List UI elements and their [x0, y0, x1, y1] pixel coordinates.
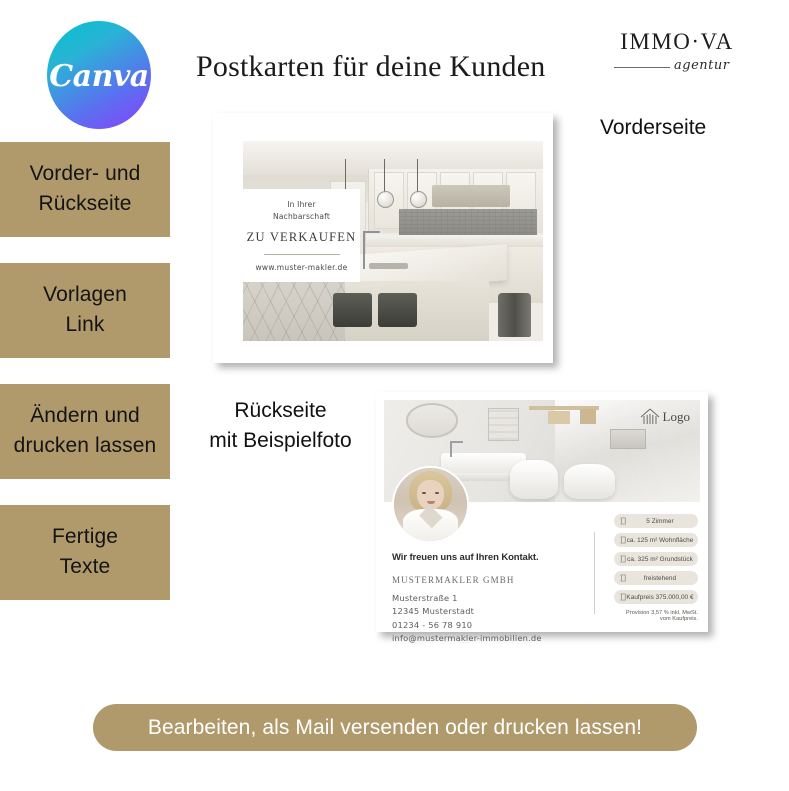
cta-button[interactable]: Bearbeiten, als Mail versenden oder druc…: [93, 704, 697, 751]
spec-row: 5 Zimmer: [614, 514, 698, 528]
canva-logo-wordmark: Canva: [49, 59, 149, 94]
postcard-back[interactable]: Logo Wir freuen uns auf Ihren Kontakt. M…: [376, 392, 708, 632]
back-logo-text: Logo: [663, 409, 690, 425]
sidebar-item-vorlagen-link[interactable]: Vorlagen Link: [0, 263, 170, 358]
sidebar: Vorder- und Rückseite Vorlagen Link Ände…: [0, 142, 170, 626]
contact-street: Musterstraße 1: [392, 592, 572, 605]
spec-row: Kaufpreis 375.000,00 €: [614, 590, 698, 604]
bidet: [510, 460, 557, 499]
contact-block: Wir freuen uns auf Ihren Kontakt. MUSTER…: [392, 552, 572, 646]
tile-floor: [243, 281, 345, 341]
sink: [369, 263, 408, 269]
sidebar-item-label: Ändern und: [30, 404, 140, 427]
sidebar-item-label: Vorlagen: [43, 283, 127, 306]
label-rueckseite-line2: mit Beispielfoto: [198, 426, 363, 456]
commission-note: Provision 3,57 % inkl. MwSt. vom Kaufpre…: [614, 610, 698, 622]
front-overlay-divider: [264, 254, 340, 255]
cta-label: Bearbeiten, als Mail versenden oder druc…: [148, 716, 642, 740]
slide-canvas: Canva Postkarten für deine Kunden IMMO·V…: [0, 0, 789, 791]
pendant-globe: [410, 191, 427, 208]
sidebar-item-vorder-und-rueckseite[interactable]: Vorder- und Rückseite: [0, 142, 170, 237]
shower-panel: [610, 429, 647, 449]
back-countertop: [363, 235, 543, 247]
brand-logo-rule: [614, 67, 670, 68]
label-rueckseite: Rückseite mit Beispielfoto: [198, 396, 363, 457]
label-rueckseite-line1: Rückseite: [234, 399, 326, 422]
brand-logo-sub: agentur: [612, 58, 742, 76]
towel-rail: [488, 408, 518, 441]
round-mirror: [406, 403, 457, 438]
contact-headline: Wir freuen uns auf Ihren Kontakt.: [392, 552, 572, 563]
canva-logo: Canva: [47, 21, 151, 129]
tag-icon: [620, 536, 627, 544]
sidebar-item-label: Fertige: [52, 525, 118, 548]
avatar-mouth: [427, 501, 435, 504]
vertical-divider: [594, 532, 595, 614]
contact-phone: 01234 - 56 78 910: [392, 619, 572, 632]
pendant-globe: [377, 191, 394, 208]
tag-icon: [620, 555, 627, 563]
sidebar-item-fertige-texte[interactable]: Fertige Texte: [0, 505, 170, 600]
spec-row: freistehend: [614, 571, 698, 585]
range-hood: [432, 185, 510, 207]
agent-avatar: [392, 466, 469, 543]
pendant-cord: [384, 159, 385, 193]
tag-icon: [620, 517, 627, 525]
back-logo-badge: Logo: [640, 408, 690, 426]
pendant-cord: [417, 159, 418, 193]
brand-logo-script: agentur: [674, 58, 729, 73]
sidebar-item-label-2: Rückseite: [6, 189, 164, 219]
faucet-icon: [450, 441, 452, 457]
house-roof-icon: [640, 408, 660, 426]
bar-stool: [378, 293, 417, 327]
shelf-box: [548, 411, 570, 424]
avatar-eye-right: [435, 492, 439, 494]
avatar-eye-left: [422, 492, 426, 494]
tag-icon: [620, 574, 627, 582]
avatar-illustration: [394, 468, 467, 541]
brand-logo: IMMO·VA agentur: [612, 30, 742, 88]
sidebar-item-label-2: Link: [6, 310, 164, 340]
contact-email: info@mustermakler-immobilien.de: [392, 632, 572, 645]
sidebar-item-label-2: drucken lassen: [6, 431, 164, 461]
front-overlay-title: ZU VERKAUFEN: [247, 230, 357, 245]
kitchen-photo: In Ihrer Nachbarschaft ZU VERKAUFEN www.…: [243, 141, 543, 341]
spec-row: ca. 125 m² Wohnfläche: [614, 533, 698, 547]
front-overlay-url: www.muster-makler.de: [255, 263, 347, 272]
toilet: [564, 464, 615, 499]
page-title: Postkarten für deine Kunden: [196, 50, 606, 84]
bar-stool: [333, 293, 372, 327]
tag-icon: [620, 593, 627, 601]
contact-city: 12345 Musterstadt: [392, 605, 572, 618]
brand-logo-main: IMMO·VA: [612, 30, 742, 53]
front-text-overlay: In Ihrer Nachbarschaft ZU VERKAUFEN www.…: [243, 189, 360, 282]
spec-row: ca. 325 m² Grundstück: [614, 552, 698, 566]
sidebar-item-label-2: Texte: [6, 552, 164, 582]
faucet-icon: [363, 231, 365, 269]
label-vorderseite: Vorderseite: [600, 116, 706, 140]
sidebar-item-label: Vorder- und: [30, 162, 141, 185]
sidebar-item-aendern-und-drucken-lassen[interactable]: Ändern und drucken lassen: [0, 384, 170, 479]
property-specs: 5 Zimmer ca. 125 m² Wohnfläche ca. 325 m…: [614, 514, 698, 622]
trash-can: [498, 293, 531, 337]
shelf-box: [580, 409, 596, 424]
front-overlay-line1: In Ihrer: [287, 199, 316, 210]
postcard-front[interactable]: In Ihrer Nachbarschaft ZU VERKAUFEN www.…: [213, 113, 553, 363]
pendant-cord: [345, 159, 346, 193]
backsplash-tile: [399, 209, 537, 237]
front-overlay-line2: Nachbarschaft: [273, 211, 330, 222]
contact-company: MUSTERMAKLER GMBH: [392, 575, 572, 585]
